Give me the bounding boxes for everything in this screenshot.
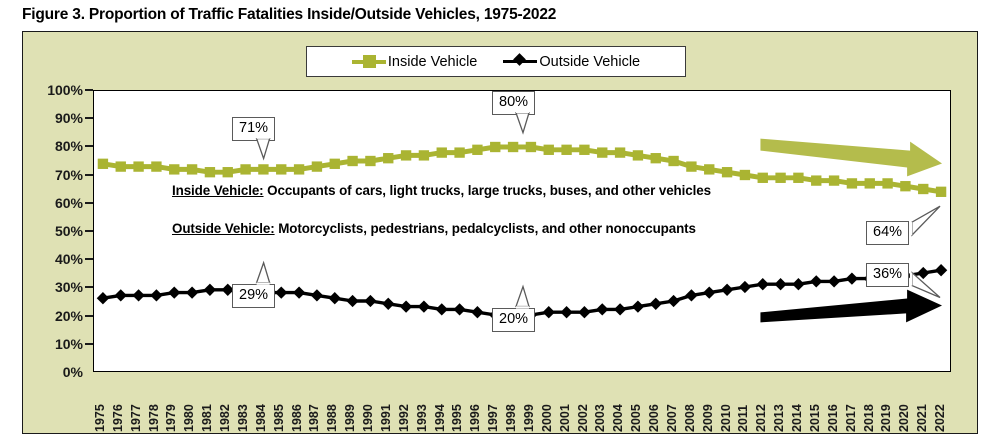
- data-point-marker: [187, 164, 197, 174]
- inside-vehicle-definition-note: Inside Vehicle: Occupants of cars, light…: [172, 183, 711, 198]
- data-point-marker: [436, 303, 448, 315]
- y-axis-tick-mark: [85, 286, 93, 288]
- y-axis-tick-label: 100%: [37, 82, 83, 98]
- chart-legend: Inside Vehicle Outside Vehicle: [306, 46, 686, 77]
- data-point-marker: [865, 178, 875, 188]
- data-point-marker: [312, 161, 322, 171]
- x-axis-year-label: 1992: [397, 404, 411, 432]
- inside-definition-label: Inside Vehicle:: [172, 183, 264, 198]
- callout-80-percent: 80%: [492, 91, 535, 115]
- data-point-marker: [810, 275, 822, 287]
- x-axis-year-label: 2007: [665, 404, 679, 432]
- data-point-marker: [757, 278, 769, 290]
- y-axis-tick-mark: [85, 174, 93, 176]
- x-axis-year-label: 1993: [415, 404, 429, 432]
- data-point-marker: [240, 164, 250, 174]
- callout-64-percent: 64%: [866, 221, 909, 245]
- y-axis-tick-mark: [85, 202, 93, 204]
- data-point-marker: [597, 147, 607, 157]
- y-axis-tick-label: 80%: [37, 138, 83, 154]
- y-axis-tick-mark: [85, 343, 93, 345]
- data-point-marker: [365, 156, 375, 166]
- x-axis-year-label: 2005: [629, 404, 643, 432]
- data-point-marker: [115, 289, 127, 301]
- y-axis-tick-label: 40%: [37, 251, 83, 267]
- x-axis-year-label: 2015: [808, 404, 822, 432]
- y-axis-tick-mark: [85, 89, 93, 91]
- data-point-marker: [186, 286, 198, 298]
- data-point-marker: [774, 278, 786, 290]
- chart-panel: Inside Vehicle Outside Vehicle 0%10%20%3…: [22, 31, 978, 434]
- data-point-marker: [650, 298, 662, 310]
- data-point-marker: [382, 298, 394, 310]
- data-point-marker: [133, 161, 143, 171]
- data-point-marker: [775, 173, 785, 183]
- x-axis-year-label: 1999: [522, 404, 536, 432]
- inside-definition-text: Occupants of cars, light trucks, large t…: [264, 183, 711, 198]
- data-point-marker: [614, 303, 626, 315]
- data-point-marker: [490, 142, 500, 152]
- data-point-marker: [846, 272, 858, 284]
- legend-item-inside-vehicle[interactable]: Inside Vehicle: [352, 54, 477, 70]
- x-axis-year-label: 2014: [790, 404, 804, 432]
- data-point-marker: [364, 295, 376, 307]
- x-axis-year-label: 1989: [343, 404, 357, 432]
- x-axis-year-label: 2011: [736, 405, 750, 432]
- x-axis-year-label: 1994: [433, 404, 447, 432]
- x-axis-year-label: 1982: [218, 404, 232, 432]
- x-axis-year-label: 2008: [683, 404, 697, 432]
- data-point-marker: [205, 167, 215, 177]
- x-axis-year-label: 2013: [772, 404, 786, 432]
- data-point-marker: [758, 173, 768, 183]
- x-axis-year-label: 2000: [540, 404, 554, 432]
- y-axis-tick-label: 10%: [37, 336, 83, 352]
- data-point-marker: [258, 164, 268, 174]
- data-point-marker: [526, 142, 536, 152]
- x-axis-year-label: 1983: [236, 404, 250, 432]
- data-point-marker: [900, 181, 910, 191]
- data-point-marker: [847, 178, 857, 188]
- data-point-marker: [294, 164, 304, 174]
- plot-area: Inside Vehicle: Occupants of cars, light…: [93, 90, 951, 372]
- data-point-marker: [917, 267, 929, 279]
- data-point-marker: [347, 156, 357, 166]
- data-point-marker: [401, 150, 411, 160]
- x-axis-year-label: 2002: [576, 404, 590, 432]
- data-point-marker: [739, 281, 751, 293]
- callout-36-percent: 36%: [866, 263, 909, 287]
- data-point-marker: [293, 286, 305, 298]
- x-axis-year-label: 2009: [701, 404, 715, 432]
- data-point-marker: [204, 284, 216, 296]
- x-axis-year-label: 2010: [719, 404, 733, 432]
- outside-definition-label: Outside Vehicle:: [172, 221, 275, 236]
- x-axis-year-label: 1977: [129, 404, 143, 432]
- x-axis-year-label: 1975: [93, 404, 107, 432]
- x-axis-year-label: 1976: [111, 404, 125, 432]
- legend-label-outside-vehicle: Outside Vehicle: [539, 54, 640, 70]
- x-axis-year-label: 2019: [879, 404, 893, 432]
- callout-29-percent: 29%: [232, 284, 275, 308]
- data-point-marker: [829, 175, 839, 185]
- data-point-marker: [275, 286, 287, 298]
- x-axis-year-label: 2021: [915, 404, 929, 432]
- data-point-marker: [151, 161, 161, 171]
- data-point-marker: [150, 289, 162, 301]
- y-axis-tick-label: 90%: [37, 110, 83, 126]
- x-axis-labels: 1975197619771978197919801981198219831984…: [93, 376, 951, 434]
- page-title: Figure 3. Proportion of Traffic Fataliti…: [22, 6, 556, 24]
- y-axis-tick-label: 70%: [37, 167, 83, 183]
- legend-label-inside-vehicle: Inside Vehicle: [388, 54, 477, 70]
- data-point-marker: [668, 156, 678, 166]
- data-point-marker: [543, 306, 555, 318]
- y-axis-tick-label: 20%: [37, 308, 83, 324]
- data-point-marker: [311, 289, 323, 301]
- data-point-marker: [346, 295, 358, 307]
- data-point-marker: [792, 278, 804, 290]
- x-axis-year-label: 1986: [290, 404, 304, 432]
- data-point-marker: [97, 292, 109, 304]
- data-point-marker: [330, 159, 340, 169]
- x-axis-year-label: 2006: [647, 404, 661, 432]
- data-point-marker: [651, 153, 661, 163]
- x-axis-year-label: 1997: [486, 404, 500, 432]
- data-point-marker: [596, 303, 608, 315]
- data-point-marker: [686, 161, 696, 171]
- legend-line-outside-icon: [503, 60, 537, 63]
- data-point-marker: [169, 164, 179, 174]
- legend-item-outside-vehicle[interactable]: Outside Vehicle: [503, 54, 640, 70]
- x-axis-year-label: 2018: [862, 404, 876, 432]
- legend-square-marker-icon: [363, 55, 376, 68]
- data-point-marker: [703, 286, 715, 298]
- x-axis-year-label: 1985: [272, 404, 286, 432]
- x-axis-year-label: 1990: [361, 404, 375, 432]
- x-axis-year-label: 2022: [933, 404, 947, 432]
- data-point-marker: [471, 306, 483, 318]
- data-point-marker: [579, 145, 589, 155]
- data-point-marker: [400, 300, 412, 312]
- x-axis-year-label: 1995: [450, 404, 464, 432]
- y-axis-tick-label: 0%: [37, 364, 83, 380]
- x-axis-year-label: 2003: [593, 404, 607, 432]
- data-point-marker: [561, 145, 571, 155]
- y-axis-tick-mark: [85, 230, 93, 232]
- data-point-marker: [811, 175, 821, 185]
- data-point-marker: [472, 145, 482, 155]
- data-point-marker: [740, 170, 750, 180]
- y-axis-tick-mark: [85, 258, 93, 260]
- data-point-marker: [508, 142, 518, 152]
- data-point-marker: [223, 167, 233, 177]
- x-axis-year-label: 2012: [754, 404, 768, 432]
- data-point-marker: [667, 295, 679, 307]
- x-axis-year-label: 1998: [504, 404, 518, 432]
- x-axis-year-label: 2017: [844, 404, 858, 432]
- y-axis-tick-mark: [85, 117, 93, 119]
- x-axis-year-label: 1979: [164, 404, 178, 432]
- callout-71-percent: 71%: [232, 117, 275, 141]
- x-axis-year-label: 1996: [468, 404, 482, 432]
- x-axis-year-label: 2020: [897, 404, 911, 432]
- data-point-marker: [329, 292, 341, 304]
- x-axis-year-label: 1984: [254, 404, 268, 432]
- data-point-marker: [544, 145, 554, 155]
- legend-line-inside-icon: [352, 60, 386, 64]
- data-point-marker: [882, 178, 892, 188]
- data-point-marker: [276, 164, 286, 174]
- y-axis-tick-label: 30%: [37, 279, 83, 295]
- data-point-marker: [918, 184, 928, 194]
- data-point-marker: [419, 150, 429, 160]
- x-axis-year-label: 1987: [307, 404, 321, 432]
- outside-vehicle-definition-note: Outside Vehicle: Motorcyclists, pedestri…: [172, 221, 696, 236]
- legend-diamond-marker-icon: [513, 53, 526, 66]
- y-axis-tick-mark: [85, 315, 93, 317]
- x-axis-year-label: 2001: [558, 404, 572, 432]
- x-axis-year-label: 1980: [182, 404, 196, 432]
- y-axis-tick-label: 60%: [37, 195, 83, 211]
- data-point-marker: [453, 303, 465, 315]
- x-axis-year-label: 1981: [200, 404, 214, 432]
- data-point-marker: [722, 167, 732, 177]
- x-axis-year-label: 2016: [826, 404, 840, 432]
- data-point-marker: [437, 147, 447, 157]
- data-point-marker: [578, 306, 590, 318]
- data-point-marker: [383, 153, 393, 163]
- x-axis-year-label: 1988: [325, 404, 339, 432]
- data-point-marker: [132, 289, 144, 301]
- data-point-marker: [828, 275, 840, 287]
- data-point-marker: [935, 264, 947, 276]
- y-axis-labels: 0%10%20%30%40%50%60%70%80%90%100%: [37, 32, 83, 433]
- data-point-marker: [936, 187, 946, 197]
- data-point-marker: [98, 159, 108, 169]
- data-point-marker: [685, 289, 697, 301]
- data-point-marker: [793, 173, 803, 183]
- data-point-marker: [418, 300, 430, 312]
- data-point-marker: [633, 150, 643, 160]
- y-axis-tick-label: 50%: [37, 223, 83, 239]
- x-axis-year-label: 1991: [379, 404, 393, 432]
- data-point-marker: [704, 164, 714, 174]
- data-point-marker: [454, 147, 464, 157]
- outside-definition-text: Motorcyclists, pedestrians, pedalcyclist…: [275, 221, 696, 236]
- data-point-marker: [168, 286, 180, 298]
- callout-20-percent: 20%: [492, 308, 535, 332]
- x-axis-year-label: 2004: [611, 404, 625, 432]
- data-point-marker: [721, 284, 733, 296]
- y-axis-tick-mark: [85, 145, 93, 147]
- x-axis-year-label: 1978: [147, 404, 161, 432]
- data-point-marker: [632, 300, 644, 312]
- data-point-marker: [560, 306, 572, 318]
- data-point-marker: [615, 147, 625, 157]
- data-point-marker: [116, 161, 126, 171]
